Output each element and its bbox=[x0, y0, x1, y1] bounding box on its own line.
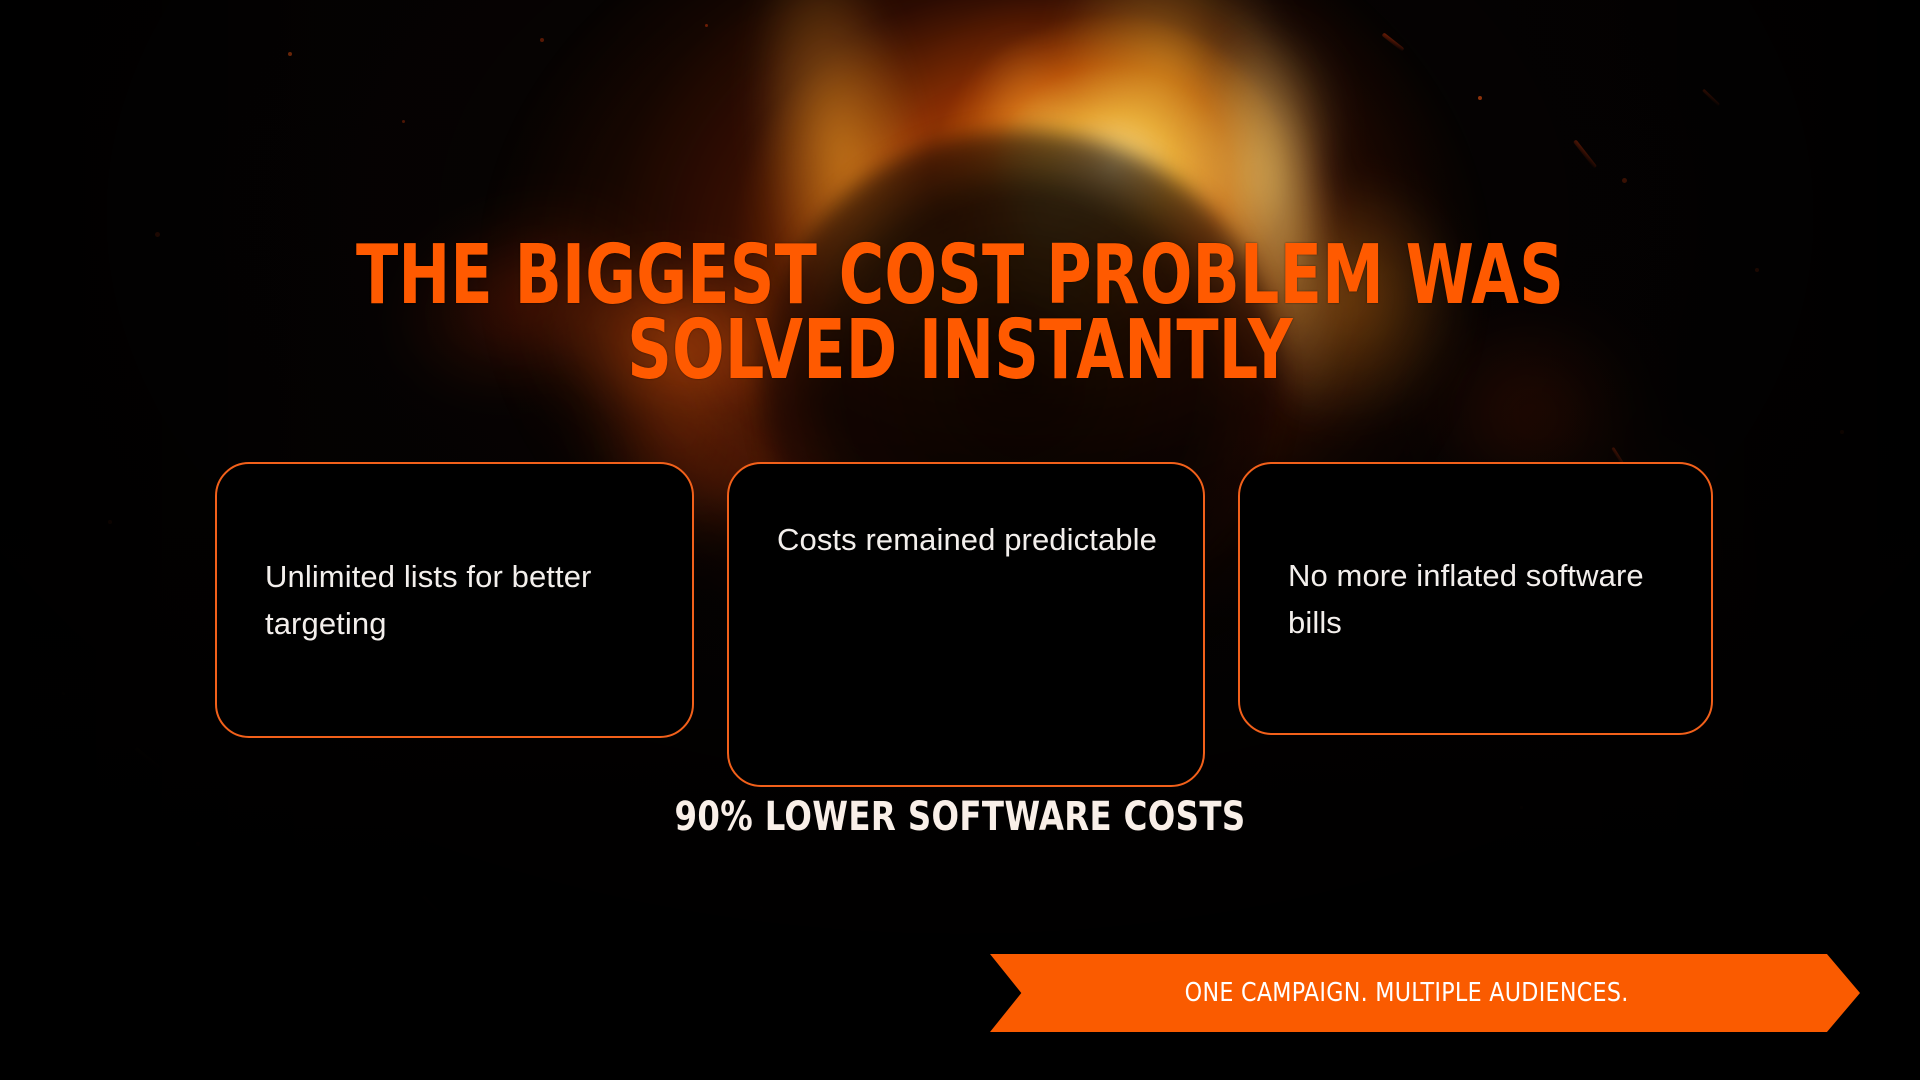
benefit-card-text: Unlimited lists for better targeting bbox=[265, 553, 662, 647]
slide-root: THE BIGGEST COST PROBLEM WAS SOLVED INST… bbox=[0, 0, 1920, 1080]
slide-content: THE BIGGEST COST PROBLEM WAS SOLVED INST… bbox=[0, 0, 1920, 1080]
tagline-banner: ONE CAMPAIGN. MULTIPLE AUDIENCES. bbox=[990, 954, 1860, 1032]
page-title: THE BIGGEST COST PROBLEM WAS SOLVED INST… bbox=[154, 238, 1767, 389]
stat-headline: 90% LOWER SOFTWARE COSTS bbox=[96, 794, 1824, 840]
benefit-card: Unlimited lists for better targeting bbox=[215, 462, 694, 738]
tagline-banner-text: ONE CAMPAIGN. MULTIPLE AUDIENCES. bbox=[1185, 978, 1629, 1008]
benefit-card: Costs remained predictable bbox=[727, 462, 1205, 787]
benefit-card: No more inflated software bills bbox=[1238, 462, 1713, 735]
benefit-card-text: No more inflated software bills bbox=[1288, 551, 1681, 645]
benefit-card-text: Costs remained predictable bbox=[777, 516, 1173, 563]
